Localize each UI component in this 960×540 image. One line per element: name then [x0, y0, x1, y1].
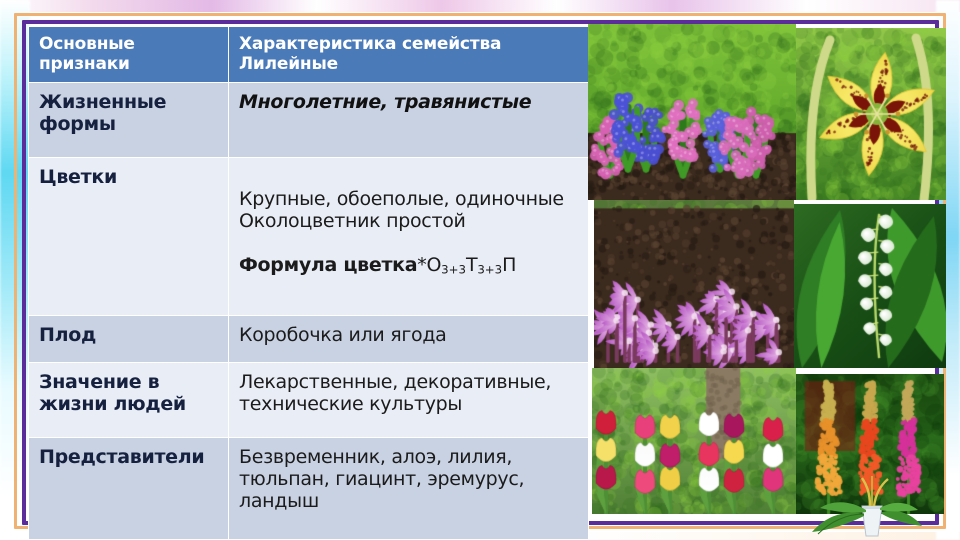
slide-canvas: Основные признаки Характеристика семейст… — [0, 0, 960, 540]
flower-formula-body: *О — [417, 254, 441, 276]
photo-colchicum — [594, 200, 794, 368]
table-row: Жизненные формы Многолетние, травянистые — [29, 83, 589, 158]
row-value-human-significance: Лекарственные, декоративные, технические… — [229, 363, 589, 438]
photo-hyacinth — [588, 24, 796, 200]
row-key-life-forms: Жизненные формы — [29, 83, 229, 158]
photo-collage — [588, 24, 946, 514]
column-header-family: Характеристика семейства Лилейные — [229, 27, 589, 83]
table-header-row: Основные признаки Характеристика семейст… — [29, 27, 589, 83]
column-header-features: Основные признаки — [29, 27, 229, 83]
photo-lily — [796, 28, 946, 200]
photo-tulips — [592, 368, 796, 514]
flowers-description: Крупные, обоеполые, одиночные Околоцветн… — [239, 188, 564, 232]
liliaceae-characteristics-table: Основные признаки Характеристика семейст… — [28, 26, 589, 540]
flower-formula: Формула цветка*О3+3Т3+3П — [239, 254, 516, 276]
row-key-human-significance: Значение в жизни людей — [29, 363, 229, 438]
vase-sprig-decoration — [804, 470, 924, 538]
row-value-representatives: Безвременник, алоэ, лилия, тюльпан, гиац… — [229, 438, 589, 540]
table-row: Цветки Крупные, обоеполые, одиночные Око… — [29, 158, 589, 315]
table-row: Представители Безвременник, алоэ, лилия,… — [29, 438, 589, 540]
row-value-life-forms: Многолетние, травянистые — [229, 83, 589, 158]
row-key-flowers: Цветки — [29, 158, 229, 315]
photo-lily-of-valley — [794, 204, 946, 368]
table-row: Плод Коробочка или ягода — [29, 315, 589, 363]
top-decorative-band — [0, 0, 960, 12]
row-key-representatives: Представители — [29, 438, 229, 540]
row-value-fruit: Коробочка или ягода — [229, 315, 589, 363]
flower-formula-sub-1: 3+3 — [441, 263, 466, 277]
flower-formula-sub-2: 3+3 — [477, 263, 502, 277]
flower-formula-label: Формула цветка — [239, 254, 417, 276]
row-value-flowers: Крупные, обоеполые, одиночные Околоцветн… — [229, 158, 589, 315]
table-row: Значение в жизни людей Лекарственные, де… — [29, 363, 589, 438]
row-key-fruit: Плод — [29, 315, 229, 363]
flower-formula-mid: Т — [466, 254, 477, 276]
flower-formula-tail: П — [502, 254, 516, 276]
